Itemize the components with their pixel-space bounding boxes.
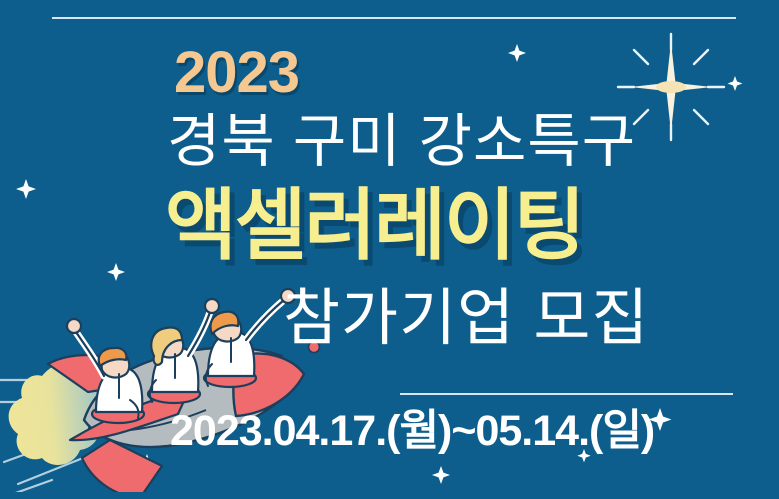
sparkle-top-center-icon — [508, 44, 526, 62]
sparkle-left-upper-icon — [16, 179, 36, 199]
sparkle-top-right-icon — [728, 76, 743, 91]
rocket-illustration — [0, 252, 322, 492]
promo-poster: 2023 경북 구미 강소특구 액셀러레이팅 참가기업 모집 2023.04.1… — [0, 0, 779, 499]
accent-dot — [309, 342, 320, 353]
sparkle-bottom-center-icon — [432, 466, 450, 484]
sparkle-far-right-icon — [577, 449, 590, 462]
sparkle-bottom-right-icon — [649, 408, 672, 431]
